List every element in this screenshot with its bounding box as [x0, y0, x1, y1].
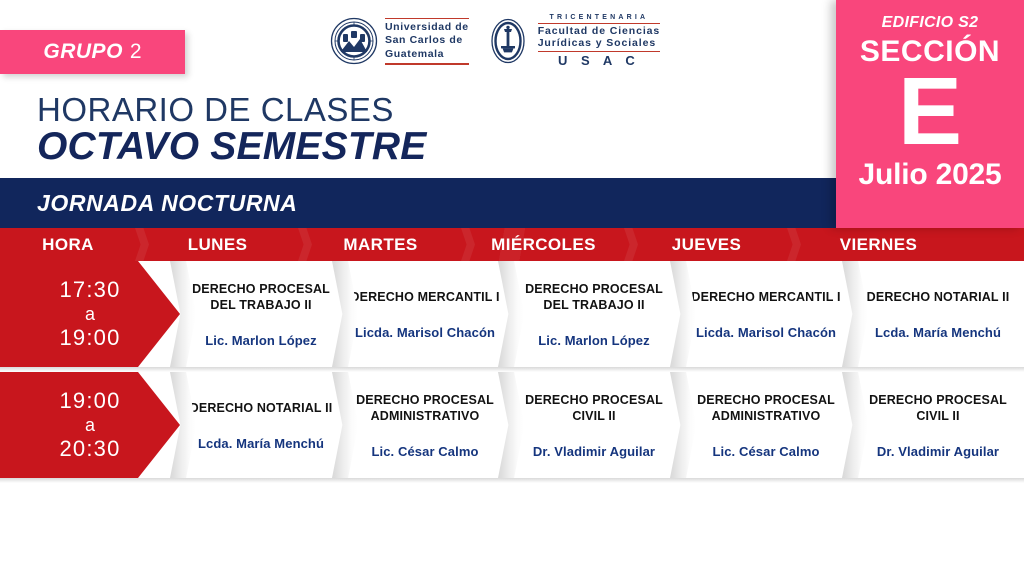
- title-line-1: HORARIO DE CLASES: [37, 92, 426, 129]
- usac-wordmark: Universidad de San Carlos de Guatemala: [385, 16, 469, 67]
- course-name: DERECHO PROCESAL CIVIL II: [860, 392, 1016, 424]
- facultad-seal-icon: [485, 18, 531, 64]
- column-header-miercoles: MIÉRCOLES: [462, 228, 625, 261]
- teacher-name: Lic. Marlon López: [538, 333, 649, 348]
- class-cell: DERECHO NOTARIAL II Lcda. María Menchú: [180, 372, 342, 478]
- class-cell: DERECHO PROCESAL DEL TRABAJO II Lic. Mar…: [180, 261, 342, 367]
- footer: DERECHO HENRY ARRIAGA Decano 2025-2029 O…: [0, 483, 1024, 577]
- teacher-name: Lcda. María Menchú: [198, 436, 324, 451]
- month-label: Julio 2025: [858, 158, 1001, 192]
- time-start: 17:30: [59, 277, 120, 303]
- course-name: DERECHO PROCESAL ADMINISTRATIVO: [350, 392, 500, 424]
- title-line-2: OCTAVO SEMESTRE: [37, 126, 426, 168]
- chevron-divider-icon: [135, 228, 149, 261]
- jornada-strong: JORNADA: [37, 190, 154, 216]
- course-name: DERECHO PROCESAL ADMINISTRATIVO: [688, 392, 844, 424]
- grupo-badge: GRUPO 2: [0, 30, 185, 74]
- column-header-label: HORA: [42, 235, 94, 255]
- class-cell: DERECHO NOTARIAL II Lcda. María Menchú: [852, 261, 1024, 367]
- usac-logo: Universidad de San Carlos de Guatemala: [330, 16, 469, 67]
- column-header-martes: MARTES: [299, 228, 462, 261]
- jornada-light: NOCTURNA: [161, 190, 297, 216]
- chevron-divider-icon: [624, 228, 638, 261]
- logo-group: Universidad de San Carlos de Guatemala: [330, 14, 660, 68]
- jornada-text: JORNADA NOCTURNA: [37, 190, 297, 217]
- teacher-name: Lic. Marlon López: [205, 333, 316, 348]
- class-cell: DERECHO PROCESAL ADMINISTRATIVO Lic. Cés…: [342, 372, 508, 478]
- time-cell: 17:30 a 19:00: [0, 261, 180, 367]
- class-cell: DERECHO PROCESAL CIVIL II Dr. Vladimir A…: [508, 372, 680, 478]
- time-separator: a: [85, 414, 95, 437]
- schedule-row: 19:00 a 20:30 DERECHO NOTARIAL II Lcda. …: [0, 372, 1024, 478]
- course-name: DERECHO MERCANTIL I: [691, 289, 840, 305]
- facultad-line-2: Jurídicas y Sociales: [538, 37, 660, 49]
- column-header-jueves: JUEVES: [625, 228, 788, 261]
- facultad-line-1: Facultad de Ciencias: [538, 25, 660, 37]
- time-start: 19:00: [59, 388, 120, 414]
- day-header-row: HORA LUNES MARTES MIÉRCOLES JUEVES VIERN…: [0, 228, 1024, 261]
- course-name: DERECHO NOTARIAL II: [190, 400, 333, 416]
- usac-line-3: Guatemala: [385, 48, 469, 61]
- chevron-divider-icon: [298, 228, 312, 261]
- tricentenaria-label: TRICENTENARIA: [538, 14, 660, 21]
- class-cell: DERECHO PROCESAL ADMINISTRATIVO Lic. Cés…: [680, 372, 852, 478]
- column-header-label: VIERNES: [840, 235, 917, 255]
- chevron-divider-icon: [787, 228, 801, 261]
- course-name: DERECHO NOTARIAL II: [867, 289, 1010, 305]
- section-panel: EDIFICIO S2 SECCIÓN E Julio 2025: [836, 0, 1024, 228]
- teacher-name: Lic. César Calmo: [712, 444, 819, 459]
- usac-acronym: U S A C: [538, 53, 660, 68]
- time-end: 19:00: [59, 325, 120, 351]
- course-name: DERECHO PROCESAL DEL TRABAJO II: [188, 281, 334, 313]
- usac-seal-icon: [330, 17, 378, 65]
- teacher-name: Licda. Marisol Chacón: [355, 325, 495, 340]
- teacher-name: Dr. Vladimir Aguilar: [877, 444, 999, 459]
- page-title: HORARIO DE CLASES OCTAVO SEMESTRE: [37, 92, 426, 168]
- teacher-name: Dr. Vladimir Aguilar: [533, 444, 655, 459]
- time-end: 20:30: [59, 436, 120, 462]
- time-cell: 19:00 a 20:30: [0, 372, 180, 478]
- course-name: DERECHO PROCESAL CIVIL II: [516, 392, 672, 424]
- column-header-lunes: LUNES: [136, 228, 299, 261]
- facultad-logo: TRICENTENARIA Facultad de Ciencias Juríd…: [485, 14, 660, 68]
- grupo-label: GRUPO: [43, 40, 123, 64]
- class-cell: DERECHO PROCESAL DEL TRABAJO II Lic. Mar…: [508, 261, 680, 367]
- class-cell: DERECHO MERCANTIL I Licda. Marisol Chacó…: [680, 261, 852, 367]
- usac-line-2: San Carlos de: [385, 34, 469, 47]
- column-header-label: LUNES: [188, 235, 248, 255]
- usac-line-1: Universidad de: [385, 21, 469, 34]
- facultad-wordmark: TRICENTENARIA Facultad de Ciencias Juríd…: [538, 14, 660, 68]
- grupo-number: 2: [130, 40, 142, 64]
- teacher-name: Lcda. María Menchú: [875, 325, 1001, 340]
- chevron-divider-icon: [461, 228, 475, 261]
- column-header-label: MIÉRCOLES: [491, 235, 596, 255]
- teacher-name: Licda. Marisol Chacón: [696, 325, 836, 340]
- schedule-poster: GRUPO 2 Unive: [0, 0, 1024, 577]
- course-name: DERECHO MERCANTIL I: [350, 289, 499, 305]
- class-cell: DERECHO MERCANTIL I Licda. Marisol Chacó…: [342, 261, 508, 367]
- column-header-hora: HORA: [0, 228, 136, 261]
- schedule-row: 17:30 a 19:00 DERECHO PROCESAL DEL TRABA…: [0, 261, 1024, 367]
- class-cell: DERECHO PROCESAL CIVIL II Dr. Vladimir A…: [852, 372, 1024, 478]
- edificio-label: EDIFICIO S2: [882, 14, 979, 32]
- seccion-letter: E: [898, 67, 962, 156]
- column-header-label: JUEVES: [672, 235, 742, 255]
- time-separator: a: [85, 303, 95, 326]
- course-name: DERECHO PROCESAL DEL TRABAJO II: [516, 281, 672, 313]
- column-header-label: MARTES: [343, 235, 417, 255]
- teacher-name: Lic. César Calmo: [371, 444, 478, 459]
- column-header-viernes: VIERNES: [788, 228, 969, 261]
